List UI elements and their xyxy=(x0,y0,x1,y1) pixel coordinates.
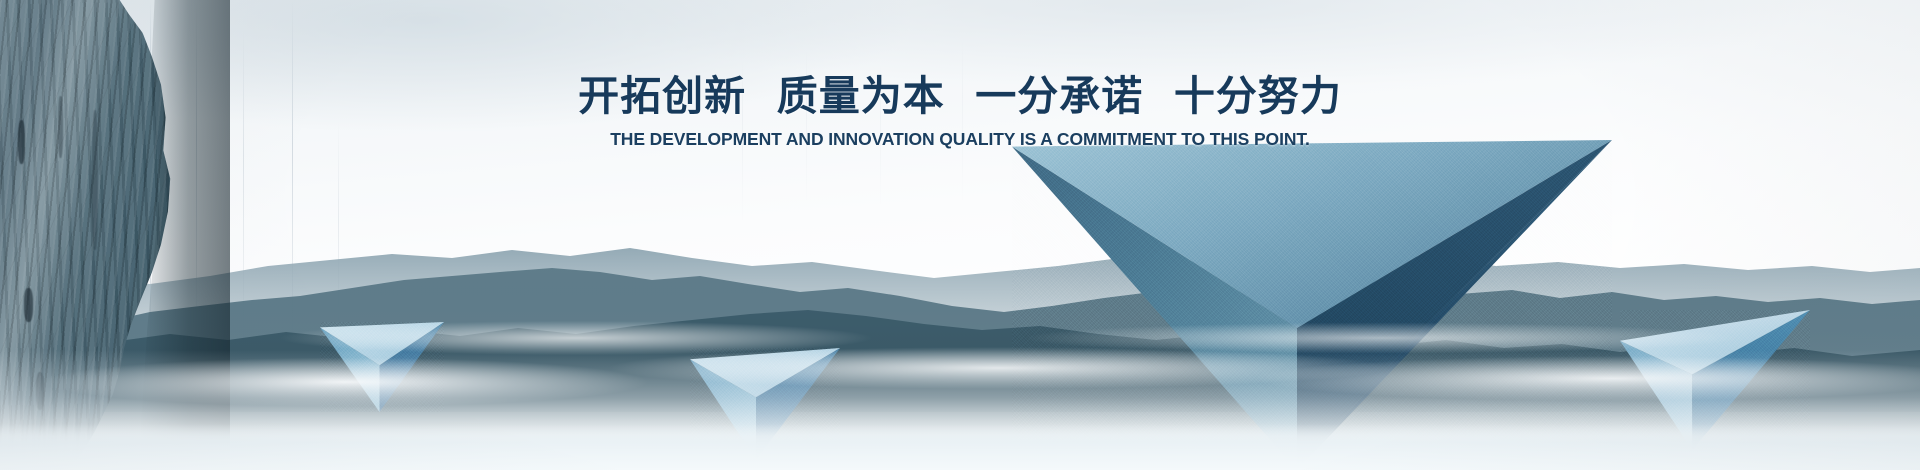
banner-headline: 开拓创新 质量为本 一分承诺 十分努力 xyxy=(0,72,1920,120)
hero-banner: 开拓创新 质量为本 一分承诺 十分努力 THE DEVELOPMENT AND … xyxy=(0,0,1920,470)
banner-text-block: 开拓创新 质量为本 一分承诺 十分努力 THE DEVELOPMENT AND … xyxy=(0,72,1920,150)
large-inverted-pyramid xyxy=(1012,140,1612,470)
banner-subline: THE DEVELOPMENT AND INNOVATION QUALITY I… xyxy=(0,129,1920,150)
pyramid-grain-texture xyxy=(320,322,444,412)
small-inverted-pyramid-left xyxy=(320,322,444,412)
rock-cliff xyxy=(0,0,230,470)
pyramid-grain-texture xyxy=(1012,140,1612,470)
water-surface xyxy=(0,424,1920,470)
